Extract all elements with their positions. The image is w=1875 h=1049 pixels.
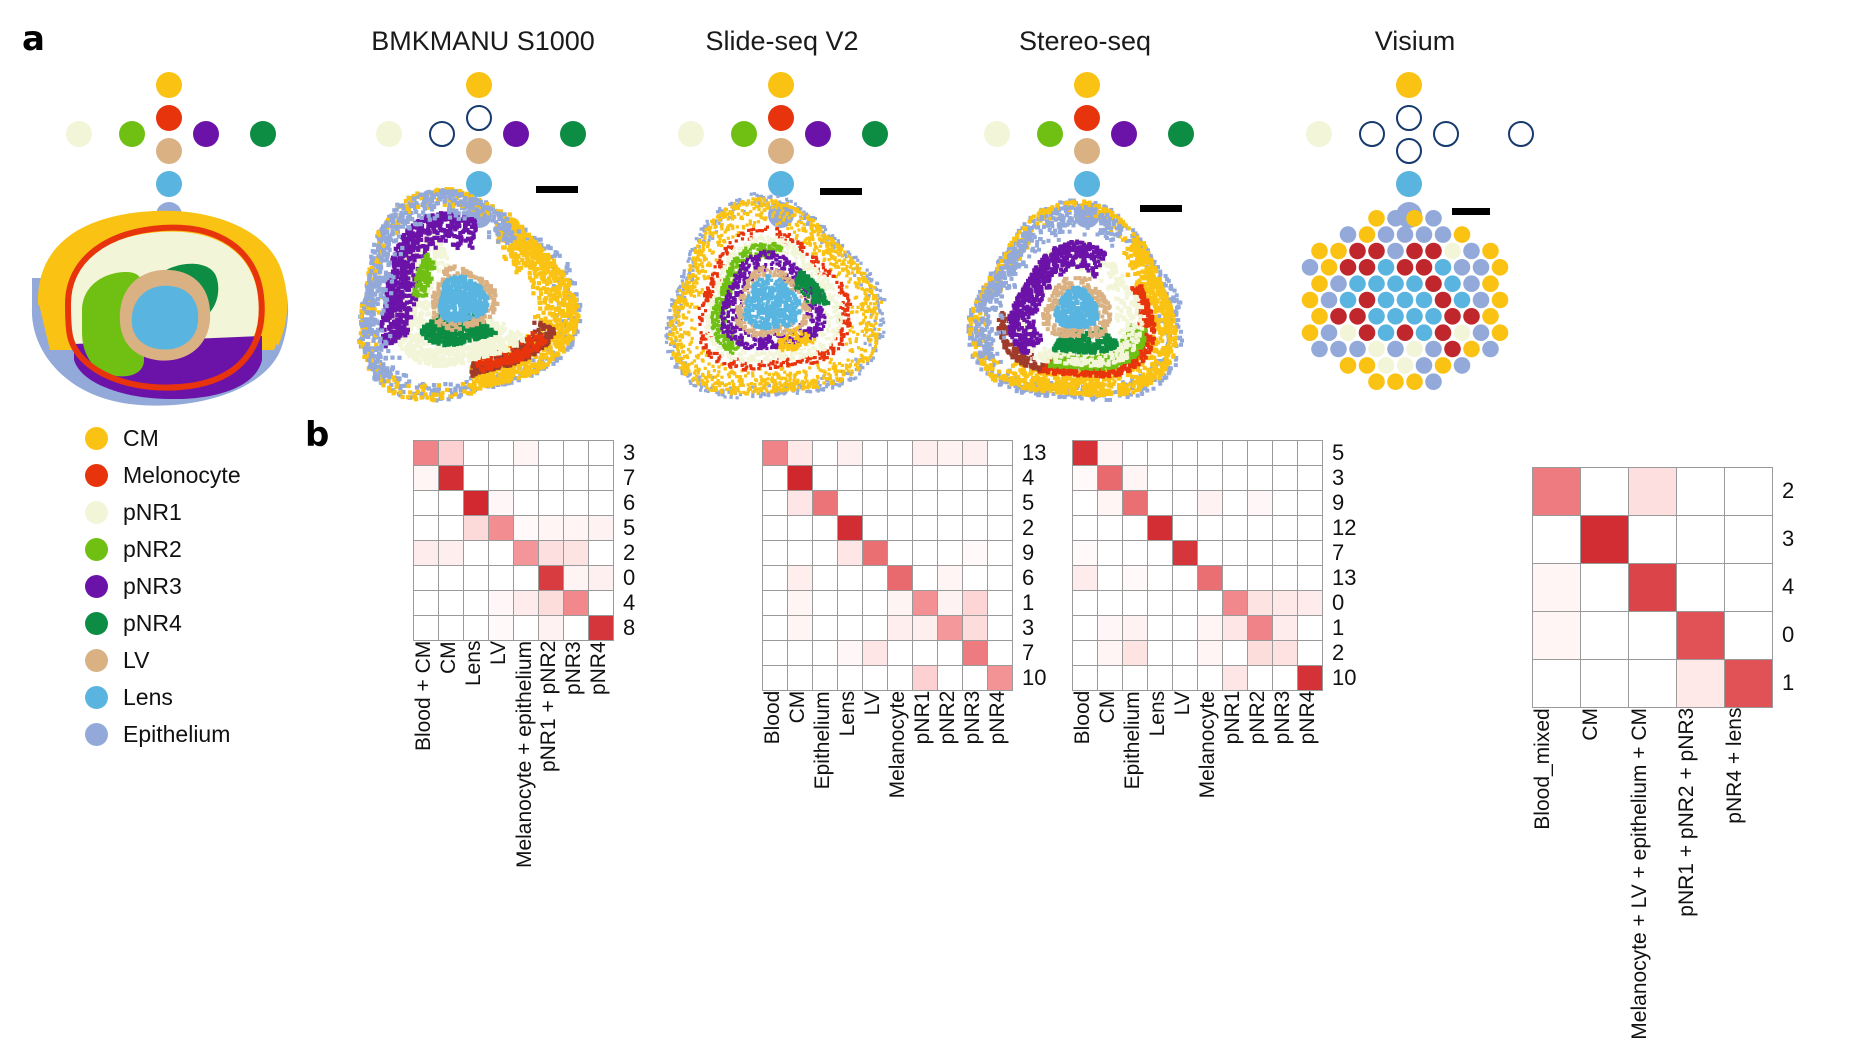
heatmap-cell[interactable] [1073,591,1097,615]
heatmap-cell[interactable] [1098,516,1122,540]
heatmap-cell[interactable] [564,491,588,515]
heatmap-cell[interactable] [1725,564,1772,611]
heatmap-cell[interactable] [788,591,812,615]
heatmap-cell[interactable] [464,591,488,615]
heatmap-cell[interactable] [1123,666,1147,690]
dotmap-slideseq [672,72,892,202]
heatmap-cell[interactable] [888,441,912,465]
heatmap-cell[interactable] [888,466,912,490]
heatmap-column-label: LV [1172,691,1197,807]
heatmap-cell[interactable] [1173,441,1197,465]
heatmap-cell[interactable] [1223,591,1247,615]
heatmap-cell[interactable] [1073,641,1097,665]
heatmap-cell[interactable] [963,516,987,540]
heatmap-cell[interactable] [1198,441,1222,465]
heatmap-cell[interactable] [888,641,912,665]
heatmap-cell[interactable] [938,441,962,465]
heatmap-cell[interactable] [489,566,513,590]
heatmap-cell[interactable] [1148,516,1172,540]
heatmap-cell[interactable] [813,466,837,490]
heatmap-cell[interactable] [988,516,1012,540]
heatmap-cell[interactable] [988,491,1012,515]
heatmap-cell[interactable] [1273,591,1297,615]
heatmap-cell[interactable] [938,516,962,540]
heatmap-cell[interactable] [439,591,463,615]
heatmap-cell[interactable] [788,491,812,515]
heatmap-cell[interactable] [514,541,538,565]
heatmap-cell[interactable] [1073,541,1097,565]
heatmap-cell[interactable] [1123,491,1147,515]
heatmap-cell[interactable] [1123,466,1147,490]
heatmap-cell[interactable] [913,441,937,465]
heatmap-cell[interactable] [1223,541,1247,565]
heatmap-cell[interactable] [888,541,912,565]
heatmap-cell[interactable] [1533,468,1580,515]
heatmap-cell[interactable] [863,566,887,590]
heatmap-cell[interactable] [1173,516,1197,540]
heatmap-cell[interactable] [1273,466,1297,490]
heatmap-cell[interactable] [1223,566,1247,590]
heatmap-cell[interactable] [539,616,563,640]
heatmap-cell[interactable] [1098,641,1122,665]
dot-bmkmanu-cm-filled [466,72,492,98]
heatmap-cell[interactable] [1223,616,1247,640]
heatmap-cell[interactable] [1725,660,1772,707]
heatmap-cell[interactable] [1248,441,1272,465]
heatmap-cell[interactable] [589,516,613,540]
heatmap-cell[interactable] [863,641,887,665]
heatmap-cell[interactable] [813,441,837,465]
heatmap-cell[interactable] [1298,516,1322,540]
heatmap-cell[interactable] [1123,641,1147,665]
heatmap-cell[interactable] [1148,616,1172,640]
heatmap-cell[interactable] [1073,666,1097,690]
heatmap-cell[interactable] [938,491,962,515]
heatmap-cell[interactable] [938,566,962,590]
heatmap-cell[interactable] [1098,616,1122,640]
heatmap-cell[interactable] [514,566,538,590]
heatmap-cell[interactable] [489,516,513,540]
bmkmanu-confusion-heatmap[interactable]: 37652048Blood + CMCMLensLVMelanocyte + e… [413,440,614,641]
heatmap-cell[interactable] [938,541,962,565]
heatmap-cell[interactable] [464,491,488,515]
heatmap-cell[interactable] [1273,516,1297,540]
heatmap-cell[interactable] [1148,491,1172,515]
heatmap-cell[interactable] [788,616,812,640]
heatmap-cell[interactable] [1581,564,1628,611]
heatmap-cell[interactable] [489,441,513,465]
heatmap-cell[interactable] [913,516,937,540]
heatmap-cell[interactable] [1629,564,1676,611]
heatmap-column-label: Blood + CM [413,641,438,877]
heatmap-cell[interactable] [439,491,463,515]
heatmap-cell[interactable] [888,616,912,640]
heatmap-cell[interactable] [1725,468,1772,515]
heatmap-cell[interactable] [913,491,937,515]
heatmap-cell[interactable] [763,441,787,465]
heatmap-cell[interactable] [963,566,987,590]
heatmap-cell[interactable] [1273,666,1297,690]
heatmap-cell[interactable] [938,641,962,665]
heatmap-cell[interactable] [589,591,613,615]
heatmap-cell[interactable] [1581,516,1628,563]
heatmap-cell[interactable] [1581,468,1628,515]
heatmap-cell[interactable] [564,566,588,590]
heatmap-cell[interactable] [1098,441,1122,465]
heatmap-cell[interactable] [813,616,837,640]
heatmap-cell[interactable] [1298,616,1322,640]
heatmap-cell[interactable] [1298,541,1322,565]
heatmap-cell[interactable] [988,666,1012,690]
heatmap-cell[interactable] [589,466,613,490]
heatmap-cell[interactable] [464,516,488,540]
heatmap-cell[interactable] [763,616,787,640]
heatmap-cell[interactable] [888,516,912,540]
heatmap-cell[interactable] [1273,566,1297,590]
heatmap-cell[interactable] [414,441,438,465]
heatmap-cell[interactable] [1123,616,1147,640]
heatmap-cell[interactable] [539,541,563,565]
heatmap-cell[interactable] [1629,660,1676,707]
heatmap-cell[interactable] [963,441,987,465]
heatmap-cell[interactable] [464,566,488,590]
heatmap-cell[interactable] [589,491,613,515]
heatmap-cell[interactable] [788,641,812,665]
heatmap-cell[interactable] [763,491,787,515]
heatmap-cell[interactable] [913,616,937,640]
heatmap-cell[interactable] [1223,666,1247,690]
heatmap-cell[interactable] [888,591,912,615]
heatmap-cell[interactable] [414,466,438,490]
heatmap-cell[interactable] [863,441,887,465]
heatmap-cell[interactable] [913,591,937,615]
heatmap-cell[interactable] [1198,566,1222,590]
heatmap-cell[interactable] [414,541,438,565]
heatmap-cell[interactable] [813,566,837,590]
heatmap-cell[interactable] [514,441,538,465]
legend-item-pnr1: pNR1 [85,497,241,528]
heatmap-cell[interactable] [1533,612,1580,659]
heatmap-cell[interactable] [988,466,1012,490]
heatmap-cell[interactable] [863,491,887,515]
heatmap-cell[interactable] [788,541,812,565]
heatmap-cell[interactable] [1629,516,1676,563]
heatmap-cell[interactable] [838,466,862,490]
heatmap-cell[interactable] [414,566,438,590]
heatmap-cell[interactable] [913,666,937,690]
heatmap-cell[interactable] [539,516,563,540]
heatmap-cell[interactable] [988,441,1012,465]
heatmap-cell[interactable] [763,566,787,590]
heatmap-cell[interactable] [838,541,862,565]
heatmap-cell[interactable] [564,516,588,540]
heatmap-cell[interactable] [464,541,488,565]
heatmap-cell[interactable] [589,566,613,590]
heatmap-cell[interactable] [1298,591,1322,615]
heatmap-cell[interactable] [439,466,463,490]
heatmap-cell[interactable] [1223,491,1247,515]
heatmap-cell[interactable] [1248,591,1272,615]
heatmap-cell[interactable] [1173,541,1197,565]
heatmap-cell[interactable] [788,566,812,590]
heatmap-cell[interactable] [414,591,438,615]
heatmap-cell[interactable] [1248,641,1272,665]
heatmap-cell[interactable] [1148,541,1172,565]
heatmap-cell[interactable] [489,591,513,615]
heatmap-cell[interactable] [863,666,887,690]
heatmap-cell[interactable] [1223,641,1247,665]
heatmap-cell[interactable] [1298,666,1322,690]
heatmap-cell[interactable] [1098,666,1122,690]
heatmap-cell[interactable] [988,541,1012,565]
heatmap-cell[interactable] [963,666,987,690]
heatmap-cell[interactable] [1098,466,1122,490]
heatmap-cell[interactable] [1148,641,1172,665]
heatmap-cell[interactable] [1173,666,1197,690]
heatmap-cell[interactable] [1123,591,1147,615]
heatmap-cell[interactable] [788,441,812,465]
heatmap-cell[interactable] [1198,491,1222,515]
heatmap-cell[interactable] [813,491,837,515]
heatmap-cell[interactable] [1248,616,1272,640]
heatmap-cell[interactable] [838,491,862,515]
heatmap-cell[interactable] [589,441,613,465]
heatmap-cell[interactable] [1725,612,1772,659]
heatmap-cell[interactable] [813,641,837,665]
heatmap-cell[interactable] [1298,491,1322,515]
heatmap-cell[interactable] [464,616,488,640]
heatmap-cell[interactable] [1073,466,1097,490]
heatmap-cell[interactable] [988,566,1012,590]
heatmap-cell[interactable] [539,491,563,515]
heatmap-cell[interactable] [763,466,787,490]
heatmap-cell[interactable] [1173,641,1197,665]
heatmap-cell[interactable] [763,666,787,690]
heatmap-cell[interactable] [1198,666,1222,690]
heatmap-cell[interactable] [1148,466,1172,490]
heatmap-cell[interactable] [1173,591,1197,615]
heatmap-cell[interactable] [863,541,887,565]
heatmap-cell[interactable] [788,516,812,540]
heatmap-cell[interactable] [539,466,563,490]
heatmap-cell[interactable] [1273,641,1297,665]
heatmap-cell[interactable] [938,616,962,640]
heatmap-cell[interactable] [1629,468,1676,515]
heatmap-cell[interactable] [489,491,513,515]
heatmap-cell[interactable] [1223,441,1247,465]
heatmap-cell[interactable] [1223,516,1247,540]
heatmap-cell[interactable] [1677,660,1724,707]
heatmap-cell[interactable] [1223,466,1247,490]
heatmap-cell[interactable] [963,491,987,515]
heatmap-cell[interactable] [813,516,837,540]
heatmap-cell[interactable] [589,616,613,640]
heatmap-cell[interactable] [464,441,488,465]
heatmap-column-label: Blood [1072,691,1097,807]
heatmap-cell[interactable] [1098,491,1122,515]
heatmap-cell[interactable] [1073,441,1097,465]
heatmap-cell[interactable] [514,516,538,540]
heatmap-cell[interactable] [838,666,862,690]
heatmap-cell[interactable] [938,666,962,690]
heatmap-cell[interactable] [988,641,1012,665]
heatmap-cell[interactable] [1098,591,1122,615]
heatmap-cell[interactable] [1581,612,1628,659]
heatmap-cell[interactable] [1533,660,1580,707]
heatmap-cell[interactable] [938,591,962,615]
heatmap-cell[interactable] [564,466,588,490]
heatmap-cell[interactable] [963,541,987,565]
heatmap-cell[interactable] [863,516,887,540]
heatmap-cell[interactable] [414,491,438,515]
heatmap-cell[interactable] [1198,591,1222,615]
heatmap-cell[interactable] [1198,466,1222,490]
heatmap-cell[interactable] [464,466,488,490]
heatmap-row-label: 2 [623,540,635,565]
heatmap-cell[interactable] [1073,616,1097,640]
heatmap-cell[interactable] [1073,491,1097,515]
heatmap-cell[interactable] [439,616,463,640]
heatmap-cell[interactable] [763,516,787,540]
heatmap-cell[interactable] [489,541,513,565]
visium-confusion-heatmap[interactable]: 23401Blood_mixedCMMelanocyte + LV + epit… [1532,467,1773,708]
heatmap-cell[interactable] [888,566,912,590]
heatmap-cell[interactable] [913,466,937,490]
heatmap-cell[interactable] [838,441,862,465]
heatmap-cell[interactable] [1123,541,1147,565]
heatmap-cell[interactable] [589,541,613,565]
heatmap-cell[interactable] [838,641,862,665]
heatmap-cell[interactable] [1248,466,1272,490]
heatmap-cell[interactable] [1248,516,1272,540]
heatmap-cell[interactable] [564,591,588,615]
heatmap-cell[interactable] [1173,466,1197,490]
heatmap-cell[interactable] [988,591,1012,615]
heatmap-cell[interactable] [1148,441,1172,465]
heatmap-cell[interactable] [1677,468,1724,515]
heatmap-cell[interactable] [1148,566,1172,590]
slideseq-confusion-heatmap[interactable]: 134529613710BloodCMEpitheliumLensLVMelan… [762,440,1013,691]
heatmap-cell[interactable] [913,541,937,565]
heatmap-cell[interactable] [1273,491,1297,515]
heatmap-cell[interactable] [1248,566,1272,590]
heatmap-cell[interactable] [863,616,887,640]
heatmap-cell[interactable] [514,466,538,490]
heatmap-cell[interactable] [1533,564,1580,611]
heatmap-cell[interactable] [539,591,563,615]
heatmap-cell[interactable] [1629,612,1676,659]
heatmap-cell[interactable] [1123,441,1147,465]
heatmap-cell[interactable] [1298,441,1322,465]
heatmap-cell[interactable] [1248,491,1272,515]
heatmap-cell[interactable] [1073,516,1097,540]
heatmap-cell[interactable] [888,666,912,690]
heatmap-cell[interactable] [1148,591,1172,615]
heatmap-cell[interactable] [1198,641,1222,665]
heatmap-cell[interactable] [1533,516,1580,563]
heatmap-cell[interactable] [1677,564,1724,611]
heatmap-cell[interactable] [788,466,812,490]
heatmap-cell[interactable] [863,591,887,615]
heatmap-cell[interactable] [1677,516,1724,563]
heatmap-cell[interactable] [1123,566,1147,590]
heatmap-cell[interactable] [813,666,837,690]
heatmap-cell[interactable] [1173,491,1197,515]
heatmap-cell[interactable] [1248,666,1272,690]
heatmap-cell[interactable] [1298,466,1322,490]
heatmap-cell[interactable] [1725,516,1772,563]
heatmap-cell[interactable] [988,616,1012,640]
heatmap-cell[interactable] [1248,541,1272,565]
heatmap-cell[interactable] [763,591,787,615]
heatmap-cell[interactable] [838,566,862,590]
heatmap-cell[interactable] [1273,541,1297,565]
heatmap-cell[interactable] [1173,616,1197,640]
heatmap-cell[interactable] [539,566,563,590]
heatmap-cell[interactable] [1098,566,1122,590]
heatmap-cell[interactable] [439,541,463,565]
heatmap-cell[interactable] [813,541,837,565]
heatmap-cell[interactable] [763,541,787,565]
heatmap-cell[interactable] [888,491,912,515]
heatmap-cell[interactable] [439,566,463,590]
heatmap-cell[interactable] [439,516,463,540]
heatmap-cell[interactable] [963,466,987,490]
heatmap-cell[interactable] [838,516,862,540]
heatmap-cell[interactable] [963,616,987,640]
heatmap-cell[interactable] [514,591,538,615]
heatmap-cell[interactable] [564,616,588,640]
heatmap-cell[interactable] [1198,516,1222,540]
heatmap-cell[interactable] [913,641,937,665]
heatmap-cell[interactable] [1298,641,1322,665]
heatmap-cell[interactable] [1098,541,1122,565]
heatmap-cell[interactable] [489,466,513,490]
heatmap-cell[interactable] [1298,566,1322,590]
heatmap-cell[interactable] [1073,566,1097,590]
heatmap-cell[interactable] [763,641,787,665]
heatmap-cell[interactable] [514,616,538,640]
heatmap-cell[interactable] [1123,516,1147,540]
heatmap-cell[interactable] [1273,616,1297,640]
heatmap-cell[interactable] [1273,441,1297,465]
heatmap-cell[interactable] [439,441,463,465]
heatmap-cell[interactable] [1198,616,1222,640]
heatmap-cell[interactable] [514,491,538,515]
heatmap-cell[interactable] [863,466,887,490]
heatmap-cell[interactable] [938,466,962,490]
heatmap-cell[interactable] [963,641,987,665]
heatmap-cell[interactable] [838,591,862,615]
heatmap-cell[interactable] [1148,666,1172,690]
heatmap-cell[interactable] [564,541,588,565]
stereoseq-confusion-heatmap[interactable]: 5391271301210BloodCMEpitheliumLensLVMela… [1072,440,1323,691]
heatmap-cell[interactable] [414,516,438,540]
heatmap-cell[interactable] [838,616,862,640]
heatmap-cell[interactable] [1173,566,1197,590]
heatmap-cell[interactable] [489,616,513,640]
heatmap-cell[interactable] [963,591,987,615]
heatmap-cell[interactable] [1581,660,1628,707]
heatmap-cell[interactable] [539,441,563,465]
heatmap-cell[interactable] [913,566,937,590]
heatmap-cell[interactable] [788,666,812,690]
heatmap-cell[interactable] [414,616,438,640]
heatmap-cell[interactable] [564,441,588,465]
heatmap-cell[interactable] [1198,541,1222,565]
heatmap-cell[interactable] [1677,612,1724,659]
heatmap-cell[interactable] [813,591,837,615]
